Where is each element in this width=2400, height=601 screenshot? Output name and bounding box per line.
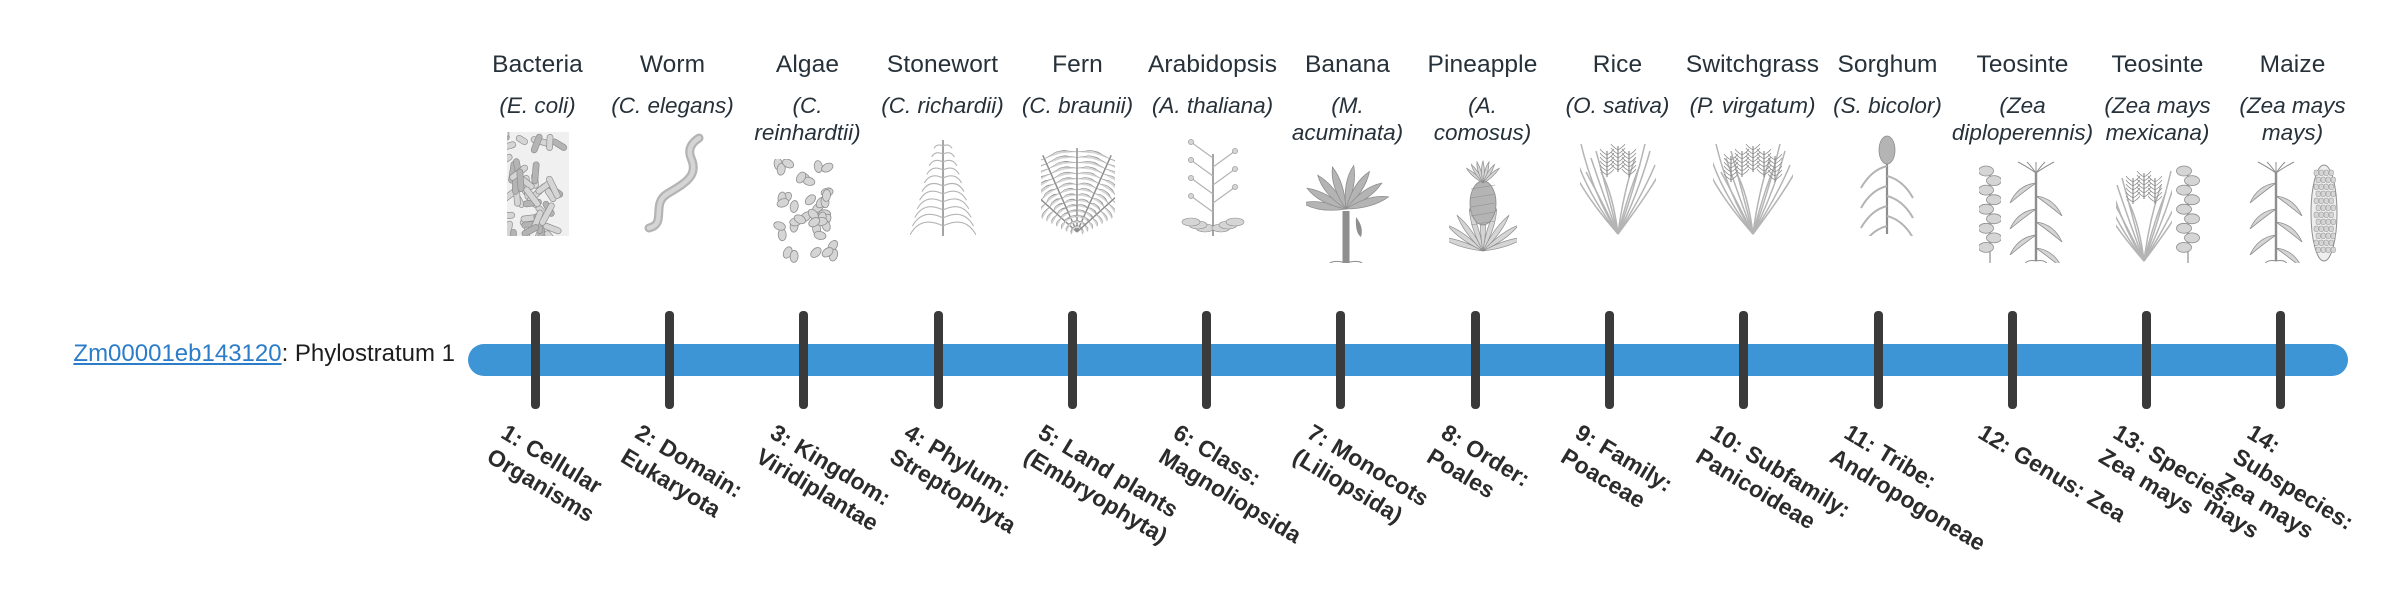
species-scientific-name: (P. virgatum)	[1688, 93, 1818, 120]
species-common-name: Worm	[640, 52, 705, 78]
maize-ear-illustration	[2309, 163, 2339, 263]
phylostratum-bar[interactable]	[468, 344, 2348, 376]
species-column: Algae(C. reinhardtii)	[740, 52, 875, 263]
phylostratum-tick[interactable]	[665, 311, 674, 409]
stratum-label[interactable]: 1: Cellular Organisms	[482, 418, 655, 553]
species-column: Rice(O. sativa)	[1550, 52, 1685, 236]
nematode-worm-illustration	[637, 132, 709, 236]
species-common-name: Fern	[1052, 52, 1103, 78]
species-common-name: Arabidopsis	[1148, 52, 1277, 78]
species-common-name: Stonewort	[887, 52, 998, 78]
species-scientific-name: (C. elegans)	[609, 93, 736, 120]
stratum-label[interactable]: 2: Domain: Eukaryota	[617, 418, 790, 553]
species-column: Sorghum(S. bicolor)	[1820, 52, 1955, 236]
species-common-name: Algae	[776, 52, 839, 78]
phylostratum-tick[interactable]	[1605, 311, 1614, 409]
species-column: Teosinte(Zea mays mexicana)	[2090, 52, 2225, 263]
stratum-label[interactable]: 3: Kingdom: Viridiplantae	[751, 418, 924, 553]
stratum-label[interactable]: 14: Subspecies: Zea mays mays	[2199, 418, 2400, 601]
arabidopsis-plant-illustration	[1179, 132, 1247, 236]
algae-cells-illustration	[773, 155, 843, 263]
species-common-name: Sorghum	[1837, 52, 1937, 78]
species-column: Bacteria(E. coli)	[470, 52, 605, 236]
species-scientific-name: (E. coli)	[497, 93, 577, 120]
pineapple-plant-illustration	[1449, 155, 1517, 263]
species-column: Teosinte(Zea diploperennis)	[1955, 52, 2090, 263]
teosinte-mexicana-ear	[2176, 163, 2200, 263]
bacteria-rods-illustration	[507, 128, 569, 236]
stratum-label[interactable]: 6: Class: Magnoliopsida	[1154, 418, 1327, 553]
species-column: Arabidopsis(A. thaliana)	[1145, 52, 1280, 236]
phylostratum-tick[interactable]	[2276, 311, 2285, 409]
nematode-worm-illustration	[637, 128, 709, 236]
sorghum-plant-illustration	[1851, 128, 1925, 236]
species-scientific-name: (Zea mays mexicana)	[2090, 93, 2225, 146]
phylostratum-tick[interactable]	[2008, 311, 2017, 409]
rice-plant-illustration	[1580, 132, 1656, 236]
species-common-name: Rice	[1593, 52, 1642, 78]
species-common-name: Bacteria	[492, 52, 583, 78]
phylostratigraphy-figure: Bacteria(E. coli)Worm(C. elegans)Algae(C…	[0, 0, 2400, 580]
maize-plant-and-ear-illustration	[2247, 155, 2339, 263]
species-column: Switchgrass(P. virgatum)	[1685, 52, 1820, 236]
gene-caption: Zm00001eb143120: Phylostratum 1	[0, 340, 455, 369]
species-scientific-name: (C. braunii)	[1020, 93, 1135, 120]
stratum-label-row: 1: Cellular Organisms2: Domain: Eukaryot…	[0, 418, 2400, 580]
species-scientific-name: (S. bicolor)	[1831, 93, 1944, 120]
species-column: Fern(C. braunii)	[1010, 52, 1145, 236]
stratum-label[interactable]: 5: Land plants (Embryophyta)	[1019, 418, 1192, 553]
species-common-name: Banana	[1305, 52, 1390, 78]
bacteria-rods-illustration	[507, 132, 569, 236]
fern-frond-illustration	[1041, 132, 1115, 236]
species-column: Worm(C. elegans)	[605, 52, 740, 236]
switchgrass-plant-illustration	[1713, 132, 1793, 236]
teosinte-diploperennis-plant	[2005, 159, 2067, 263]
species-common-name: Maize	[2260, 52, 2326, 78]
phylostratum-tick[interactable]	[1336, 311, 1345, 409]
banana-plant-illustration	[1306, 159, 1390, 263]
stonewort-illustration	[910, 128, 976, 236]
rice-plant-illustration	[1580, 128, 1656, 236]
stratum-label[interactable]: 7: Monocots (Liliopsida)	[1288, 418, 1461, 553]
gene-caption-separator: :	[282, 340, 295, 367]
algae-cells-illustration	[773, 159, 843, 263]
teosinte-mexicana-plant	[2116, 159, 2172, 263]
teosinte-diploperennis-illustration	[1979, 155, 2067, 263]
species-common-name: Teosinte	[2111, 52, 2203, 78]
teosinte-mexicana-illustration	[2116, 155, 2200, 263]
species-scientific-name: (Zea diploperennis)	[1950, 93, 2095, 146]
species-scientific-name: (C. reinhardtii)	[740, 93, 875, 146]
species-scientific-name: (Zea mays mays)	[2225, 93, 2360, 146]
pineapple-plant-illustration	[1449, 159, 1517, 263]
phylostratum-tick[interactable]	[1471, 311, 1480, 409]
phylostratum-tick[interactable]	[2142, 311, 2151, 409]
species-common-name: Pineapple	[1428, 52, 1538, 78]
species-scientific-name: (A. comosus)	[1415, 93, 1550, 146]
species-scientific-name: (O. sativa)	[1564, 93, 1672, 120]
teosinte-diploperennis-ear	[1979, 163, 2001, 263]
sorghum-plant-illustration	[1851, 132, 1925, 236]
species-scientific-name: (C. richardii)	[879, 93, 1006, 120]
phylostratum-tick[interactable]	[531, 311, 540, 409]
stratum-label[interactable]: 11: Tribe: Andropogoneae	[1825, 418, 1998, 553]
stonewort-illustration	[910, 132, 976, 236]
fern-frond-illustration	[1041, 128, 1115, 236]
species-column: Pineapple(A. comosus)	[1415, 52, 1550, 263]
species-header-row: Bacteria(E. coli)Worm(C. elegans)Algae(C…	[470, 52, 2360, 302]
phylostratum-tick[interactable]	[1202, 311, 1211, 409]
phylostratum-tick[interactable]	[934, 311, 943, 409]
species-column: Stonewort(C. richardii)	[875, 52, 1010, 236]
stratum-label[interactable]: 10: Subfamily: Panicoideae	[1691, 418, 1864, 553]
phylostratum-tick[interactable]	[1739, 311, 1748, 409]
species-scientific-name: (M. acuminata)	[1280, 93, 1415, 146]
species-common-name: Teosinte	[1976, 52, 2068, 78]
arabidopsis-plant-illustration	[1179, 128, 1247, 236]
gene-id-link[interactable]: Zm00001eb143120	[73, 340, 281, 367]
stratum-label[interactable]: 4: Phylum: Streptophyta	[885, 418, 1058, 553]
phylostratum-tick[interactable]	[799, 311, 808, 409]
species-scientific-name: (A. thaliana)	[1150, 93, 1275, 120]
species-common-name: Switchgrass	[1686, 52, 1819, 78]
maize-plant-illustration	[2247, 159, 2305, 263]
phylostratum-tick[interactable]	[1068, 311, 1077, 409]
stratum-label[interactable]: 8: Order: Poales	[1422, 418, 1595, 553]
switchgrass-plant-illustration	[1713, 128, 1793, 236]
species-column: Banana(M. acuminata)	[1280, 52, 1415, 263]
species-column: Maize(Zea mays mays)	[2225, 52, 2360, 263]
banana-plant-illustration	[1306, 155, 1390, 263]
phylostratum-tick[interactable]	[1874, 311, 1883, 409]
stratum-label[interactable]: 9: Family: Poaceae	[1557, 418, 1730, 553]
phylostratum-label: Phylostratum 1	[295, 340, 455, 367]
